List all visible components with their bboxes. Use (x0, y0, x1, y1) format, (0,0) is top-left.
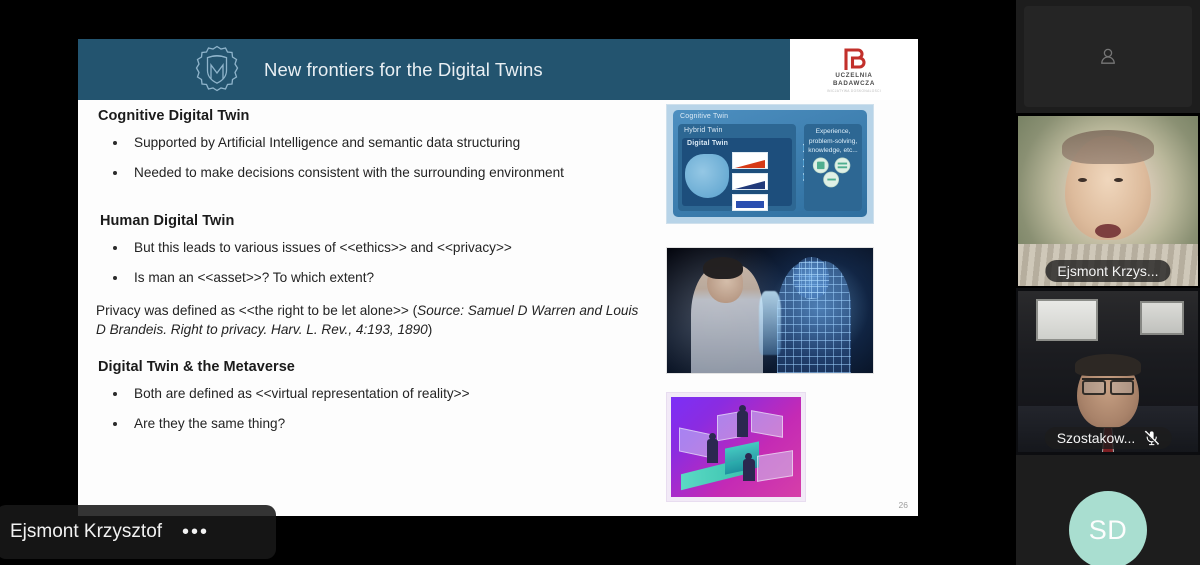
bullet-item: Needed to make decisions consistent with… (96, 158, 656, 188)
presented-slide: New frontiers for the Digital Twins (78, 0, 918, 557)
sim-card-3 (732, 194, 768, 211)
diagram-label-mid: Hybrid Twin (684, 127, 723, 134)
person-icon (1097, 46, 1119, 68)
institution-line-2: BADAWCZA (833, 80, 875, 88)
diagram-label-right: Experience, problem-solving, knowledge, … (806, 127, 860, 156)
section-digital-twin-metaverse: Digital Twin & the Metaverse Both are de… (96, 359, 656, 438)
paragraph-plain: Privacy was defined as <<the right to be… (96, 303, 417, 318)
slide-page: New frontiers for the Digital Twins (78, 39, 918, 516)
metaverse-illustration (666, 392, 806, 502)
participant-filmstrip[interactable]: Ejsmont Krzys... Szostakow... (1016, 0, 1200, 565)
bullet-list: But this leads to various issues of <<et… (96, 233, 656, 292)
gear-m-logo-icon (190, 43, 244, 97)
cognitive-twin-diagram: Cognitive Twin Hybrid Twin Digital Twin (666, 104, 874, 224)
avatar-initials: SD (1089, 515, 1128, 546)
institution-line-1: UCZELNIA (835, 72, 872, 80)
bullet-item: Both are defined as <<virtual representa… (96, 379, 656, 409)
uczelnia-badawcza-logo-icon (840, 46, 868, 72)
diagram-label-outer: Cognitive Twin (680, 113, 728, 120)
section-human-digital-twin: Human Digital Twin But this leads to var… (96, 213, 656, 339)
participant-tile-sd[interactable]: SD (1016, 455, 1200, 565)
slide-text-column: Cognitive Digital Twin Supported by Arti… (96, 108, 656, 438)
participant-tile-placeholder[interactable] (1016, 0, 1200, 113)
institution-line-3: INICJATYWA DOSKONALOSCI (827, 89, 881, 93)
participant-name: Szostakow... (1057, 430, 1136, 446)
participant-tile-ejsmont[interactable]: Ejsmont Krzys... (1016, 113, 1200, 288)
spacer (96, 339, 656, 359)
paragraph-tail: ) (428, 322, 433, 337)
slide-page-number: 26 (899, 500, 908, 510)
wireframe-avatar-figure (777, 261, 851, 373)
shared-screen-stage[interactable]: New frontiers for the Digital Twins (0, 0, 1016, 565)
bullet-list: Both are defined as <<virtual representa… (96, 379, 656, 438)
human-digital-twin-photo (666, 247, 874, 374)
participant-name-badge: Ejsmont Krzys... (1045, 260, 1170, 282)
active-speaker-badge: Ejsmont Krzysztof ••• (0, 505, 276, 559)
slide-header: New frontiers for the Digital Twins (78, 39, 918, 100)
bullet-item: But this leads to various issues of <<et… (96, 233, 656, 263)
mesh-head-shape (685, 154, 729, 198)
section-title: Human Digital Twin (100, 213, 656, 229)
avatar: SD (1069, 491, 1147, 565)
sim-card-1 (732, 152, 768, 169)
human-figure (691, 265, 763, 373)
meeting-screen: New frontiers for the Digital Twins (0, 0, 1200, 565)
diagram-label-inner: Digital Twin (687, 140, 728, 147)
participant-tile-szostakowski[interactable]: Szostakow... (1016, 288, 1200, 455)
participant-name: Ejsmont Krzys... (1057, 263, 1158, 279)
privacy-definition-paragraph: Privacy was defined as <<the right to be… (96, 301, 648, 340)
microphone-muted-icon (1143, 430, 1159, 446)
section-title: Cognitive Digital Twin (98, 108, 656, 124)
institution-logo-block: UCZELNIA BADAWCZA INICJATYWA DOSKONALOSC… (790, 39, 918, 100)
section-cognitive-digital-twin: Cognitive Digital Twin Supported by Arti… (96, 108, 656, 187)
bullet-item: Supported by Artificial Intelligence and… (96, 128, 656, 158)
active-speaker-name: Ejsmont Krzysztof (10, 521, 162, 543)
letterbox-top (78, 0, 918, 39)
spacer (96, 187, 656, 213)
gears-icon (808, 175, 858, 192)
bullet-item: Are they the same thing? (96, 409, 656, 439)
slide-body: Cognitive Digital Twin Supported by Arti… (78, 100, 918, 516)
touching-hands (759, 291, 781, 355)
more-options-icon[interactable]: ••• (182, 526, 209, 538)
sim-card-2 (732, 173, 768, 190)
participant-name-badge: Szostakow... (1045, 427, 1172, 449)
bullet-list: Supported by Artificial Intelligence and… (96, 128, 656, 187)
bullet-item: Is man an <<asset>>? To which extent? (96, 263, 656, 293)
section-title: Digital Twin & the Metaverse (98, 359, 656, 375)
slide-title: New frontiers for the Digital Twins (264, 59, 543, 81)
